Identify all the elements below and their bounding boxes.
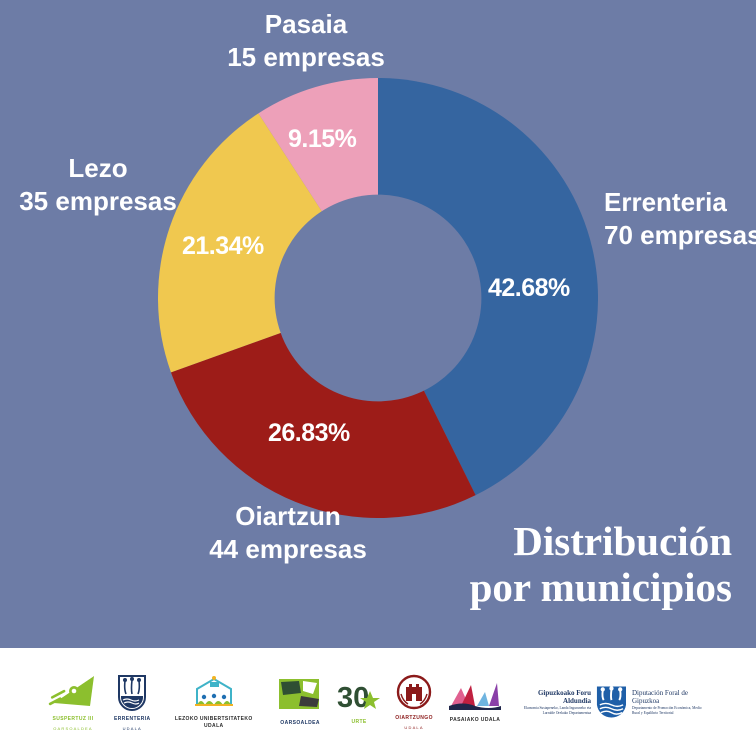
logo-errenteria-sub: UDALA bbox=[123, 726, 142, 731]
page-title: Distribución por municipios bbox=[262, 519, 732, 611]
slice-percent-oiartzun: 26.83% bbox=[268, 419, 350, 448]
slice-percent-pasaia: 9.15% bbox=[288, 125, 356, 154]
lezo-building-icon bbox=[191, 675, 237, 713]
logo-suspertuz-name: Suspertuz III bbox=[52, 716, 93, 722]
logo-pasaia-name: PASAIAKO UDALA bbox=[450, 717, 501, 723]
donut-hole bbox=[275, 195, 482, 402]
callout-pasaia-count: 15 empresas bbox=[216, 41, 396, 74]
logo-30-anniversary: 30 urte bbox=[337, 678, 381, 725]
infographic-poster: 42.68% 26.83% 21.34% 9.15% Pasaia 15 emp… bbox=[0, 0, 756, 756]
oiartzun-seal-icon bbox=[395, 674, 433, 712]
callout-errenteria: Errenteria 70 empresas bbox=[604, 186, 756, 253]
logo-pasaia: PASAIAKO UDALA bbox=[447, 680, 503, 723]
logo-oarsoaldea: Oarsoaldea bbox=[277, 677, 323, 726]
errenteria-crest-icon bbox=[115, 673, 149, 713]
thirty-anniversary-icon: 30 bbox=[337, 678, 381, 716]
diputacion-spanish-text: Diputación Foral de Gipuzkoa Departament… bbox=[632, 689, 710, 716]
callout-errenteria-name: Errenteria bbox=[604, 186, 756, 219]
logo-suspertuz: Suspertuz III OARSOALDEA bbox=[46, 673, 100, 730]
page-title-line1: Distribución bbox=[262, 519, 732, 565]
gipuzkoa-crest-icon bbox=[595, 684, 628, 720]
diputacion-basque-name: Gipuzkoako Foru Aldundia bbox=[517, 689, 591, 705]
diputacion-basque-text: Gipuzkoako Foru Aldundia Ekonomia Sustap… bbox=[517, 689, 591, 716]
logo-lezo: Lezoko Unibertsitateko Udala bbox=[165, 675, 264, 729]
slice-percent-lezo: 21.34% bbox=[182, 232, 264, 261]
callout-lezo-name: Lezo bbox=[8, 152, 188, 185]
logo-lezo-name: Lezoko Unibertsitateko Udala bbox=[165, 716, 264, 729]
logo-suspertuz-sub: OARSOALDEA bbox=[53, 726, 93, 731]
callout-pasaia: Pasaia 15 empresas bbox=[216, 8, 396, 75]
logo-oiartzun-sub: UDALA bbox=[404, 725, 423, 730]
page-title-line2: por municipios bbox=[262, 565, 732, 611]
logo-errenteria: ERRENTERIA UDALA bbox=[114, 673, 151, 730]
callout-pasaia-name: Pasaia bbox=[216, 8, 396, 41]
logo-diputacion-foral-gipuzkoa: Gipuzkoako Foru Aldundia Ekonomia Sustap… bbox=[517, 684, 710, 720]
suspertuz-arrow-icon bbox=[46, 673, 100, 713]
logo-oiartzun-name: OIARTZUNGO bbox=[395, 715, 433, 721]
logo-oiartzun: OIARTZUNGO UDALA bbox=[395, 674, 433, 729]
callout-lezo: Lezo 35 empresas bbox=[8, 152, 188, 219]
diputacion-basque-sub: Ekonomia Sustapeneko, Landa Inguruneko e… bbox=[517, 706, 591, 716]
slice-percent-errenteria: 42.68% bbox=[488, 274, 570, 303]
diputacion-lockup: Gipuzkoako Foru Aldundia Ekonomia Sustap… bbox=[517, 684, 710, 720]
pasaia-sails-icon bbox=[447, 680, 503, 714]
logo-oarsoaldea-name: Oarsoaldea bbox=[280, 720, 320, 726]
diputacion-spanish-name: Diputación Foral de Gipuzkoa bbox=[632, 689, 710, 705]
sponsor-logo-strip: Suspertuz III OARSOALDEA ERRENTERIA UDAL… bbox=[0, 648, 756, 756]
callout-errenteria-count: 70 empresas bbox=[604, 219, 756, 252]
logo-errenteria-name: ERRENTERIA bbox=[114, 716, 151, 722]
diputacion-spanish-sub: Departamento de Promoción Económica, Med… bbox=[632, 706, 710, 716]
logo-30-sub: urte bbox=[351, 719, 366, 725]
callout-lezo-count: 35 empresas bbox=[8, 185, 188, 218]
oarsoaldea-mark-icon bbox=[277, 677, 323, 717]
